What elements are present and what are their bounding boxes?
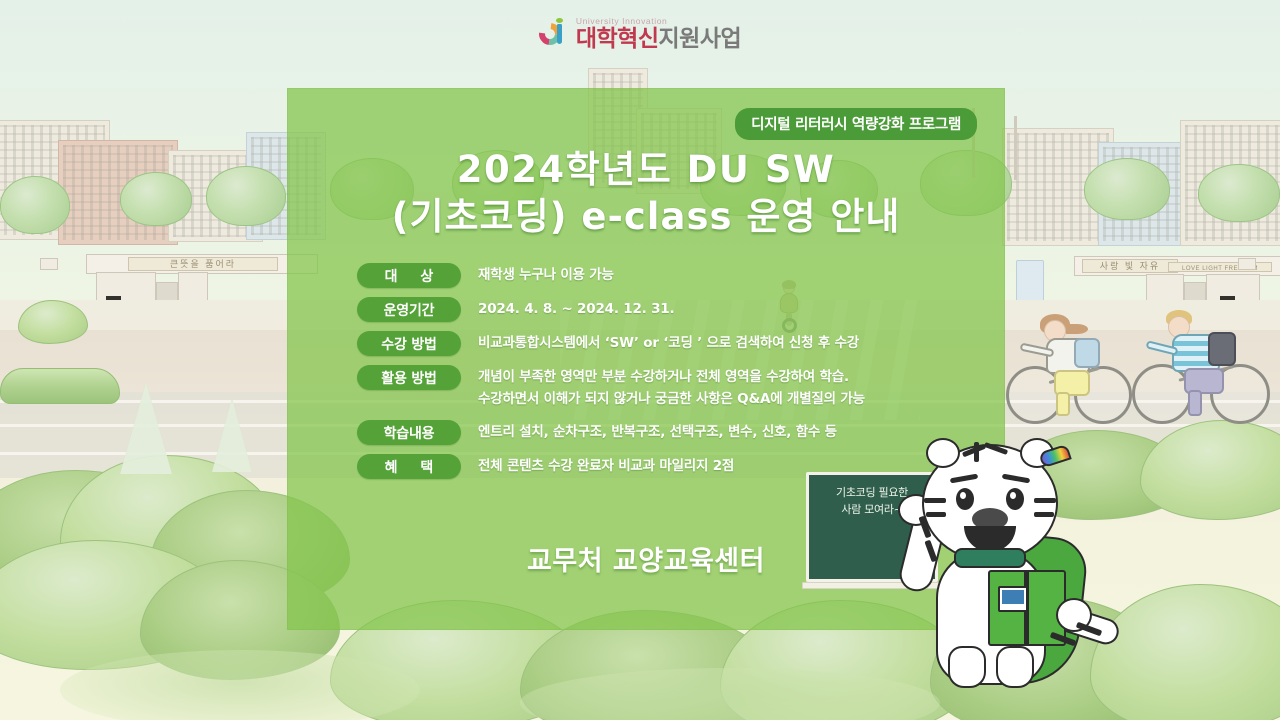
info-row-enrollment: 수강 방법 비교과통합시스템에서 ‘SW’ or ‘코딩 ’ 으로 검색하여 신… [357, 331, 997, 356]
tree-2 [120, 172, 192, 226]
mascot-cheek-stripe-left-1 [924, 498, 946, 503]
gate-right-sign-ko: 사랑 빛 자유 [1082, 259, 1178, 273]
building-right-1 [1002, 128, 1114, 246]
hedge-left [0, 368, 120, 404]
gate-right-pillar-plaque: 大邱大學校 [1220, 296, 1235, 358]
tree-10 [1198, 164, 1280, 222]
info-value-benefit: 전체 콘텐츠 수강 완료자 비교과 마일리지 2점 [461, 454, 734, 477]
gate-right-lamp [1238, 258, 1256, 270]
logo-text: University Innovation 대학혁신지원사업 [576, 17, 741, 51]
info-row-target: 대 상 재학생 누구나 이용 가능 [357, 263, 997, 288]
poster-title-line-1: 2024학년도 DU SW [287, 146, 1005, 193]
info-label-period: 운영기간 [357, 297, 461, 322]
tree-3 [206, 166, 286, 226]
mascot-leg-right [996, 646, 1034, 688]
info-label-target: 대 상 [357, 263, 461, 288]
mascot-head-stripe-3 [974, 442, 979, 462]
gate-left-door [156, 282, 178, 368]
mascot-leg-left [948, 646, 986, 688]
mascot-eye-right [1006, 488, 1024, 510]
conifer-tree-1 [120, 382, 172, 474]
shop-window-right [1088, 318, 1146, 348]
info-value-target: 재학생 누구나 이용 가능 [461, 263, 614, 286]
info-value-enrollment: 비교과통합시스템에서 ‘SW’ or ‘코딩 ’ 으로 검색하여 신청 후 수강 [461, 331, 859, 354]
info-label-enrollment: 수강 방법 [357, 331, 461, 356]
building-left-2 [58, 140, 178, 245]
grass-2 [520, 668, 940, 720]
grass-1 [60, 650, 420, 720]
poster-canvas: 큰뜻을 품어라 大邱大學校 사랑 빛 자유 LOVE LIGHT FREEDOM… [0, 0, 1280, 720]
shrub-4 [0, 540, 230, 670]
cyclist-man [1140, 300, 1280, 430]
banner-pole-2 [1014, 116, 1017, 180]
info-value-period-line-1: 2024. 4. 8. ~ 2024. 12. 31. [478, 301, 674, 317]
program-badge: 디지털 리터러시 역량강화 프로그램 [735, 108, 977, 140]
mascot-eye-highlight-right [1010, 492, 1016, 499]
tree-1 [0, 176, 70, 234]
info-row-usage: 활용 방법 개념이 부족한 영역만 부분 수강하거나 전체 영역을 수강하여 학… [357, 365, 997, 410]
gate-left-pillar-2 [178, 272, 208, 368]
info-value-usage: 개념이 부족한 영역만 부분 수강하거나 전체 영역을 수강하여 학습. 수강하… [461, 365, 865, 410]
gate-left-sign: 큰뜻을 품어라 [128, 257, 278, 271]
info-value-period: 2024. 4. 8. ~ 2024. 12. 31. [461, 297, 674, 320]
logo-mark-icon [539, 17, 569, 51]
mascot-eye-left [956, 488, 974, 510]
building-left-3 [168, 150, 263, 242]
shrub-1 [0, 470, 200, 600]
info-board-right [1016, 260, 1044, 312]
conifer-tree-2 [212, 398, 252, 472]
university-innovation-logo: University Innovation 대학혁신지원사업 [0, 10, 1280, 58]
cyclist-woman [1012, 300, 1162, 430]
info-row-period: 운영기간 2024. 4. 8. ~ 2024. 12. 31. [357, 297, 997, 322]
mascot-eye-highlight-left [960, 492, 966, 499]
info-value-curriculum-line-1: 엔트리 설치, 순차구조, 반복구조, 선택구조, 변수, 신호, 함수 등 [478, 424, 837, 440]
gate-right-pillar-1 [1146, 274, 1184, 366]
gate-left-lamp [40, 258, 58, 270]
program-badge-row: 디지털 리터러시 역량강화 프로그램 [735, 108, 977, 140]
shrub-2 [60, 455, 280, 595]
tiger-mascot [900, 440, 1170, 720]
logo-korean-primary: 대학혁신 [576, 26, 659, 52]
building-right-2 [1098, 142, 1194, 246]
info-value-enrollment-line-1: 비교과통합시스템에서 ‘SW’ or ‘코딩 ’ 으로 검색하여 신청 후 수강 [478, 335, 859, 351]
info-value-target-line-1: 재학생 누구나 이용 가능 [478, 267, 614, 283]
mascot-cheek-stripe-right-1 [1034, 498, 1056, 503]
building-left-1 [0, 120, 110, 240]
gate-left-pillar-plaque: 大邱大學校 [106, 296, 121, 358]
info-value-benefit-line-1: 전체 콘텐츠 수강 완료자 비교과 마일리지 2점 [478, 458, 734, 474]
mascot-ear-left [926, 438, 960, 468]
shrub-upper-left [18, 300, 88, 344]
mascot-scarf [954, 548, 1026, 568]
logo-english-label: University Innovation [576, 17, 741, 26]
info-label-benefit: 혜 택 [357, 454, 461, 479]
poster-title-line-2: (기초코딩) e-class 운영 안내 [287, 193, 1005, 240]
info-label-usage: 활용 방법 [357, 365, 461, 390]
mascot-cheek-stripe-right-2 [1034, 512, 1054, 517]
mascot-cheek-stripe-left-2 [926, 512, 946, 517]
info-value-curriculum: 엔트리 설치, 순차구조, 반복구조, 선택구조, 변수, 신호, 함수 등 [461, 420, 837, 443]
info-label-curriculum: 학습내용 [357, 420, 461, 445]
logo-korean-label: 대학혁신지원사업 [576, 28, 741, 51]
gate-left-pillar [96, 272, 156, 368]
tree-9 [1084, 158, 1170, 220]
logo-korean-secondary: 지원사업 [659, 26, 742, 52]
gate-right-door [1184, 282, 1206, 366]
info-value-usage-line-1: 개념이 부족한 영역만 부분 수강하거나 전체 영역을 수강하여 학습. [478, 366, 865, 388]
info-value-usage-line-2: 수강하면서 이해가 되지 않거나 궁금한 사항은 Q&A에 개별질의 가능 [478, 388, 865, 410]
building-right-3 [1180, 120, 1280, 246]
gate-left-beam [86, 254, 318, 274]
gate-right-sign-en: LOVE LIGHT FREEDOM [1168, 262, 1272, 272]
poster-title: 2024학년도 DU SW (기초코딩) e-class 운영 안내 [287, 146, 1005, 240]
gate-right-pillar-2 [1206, 274, 1260, 366]
gate-right-beam [1074, 256, 1280, 276]
